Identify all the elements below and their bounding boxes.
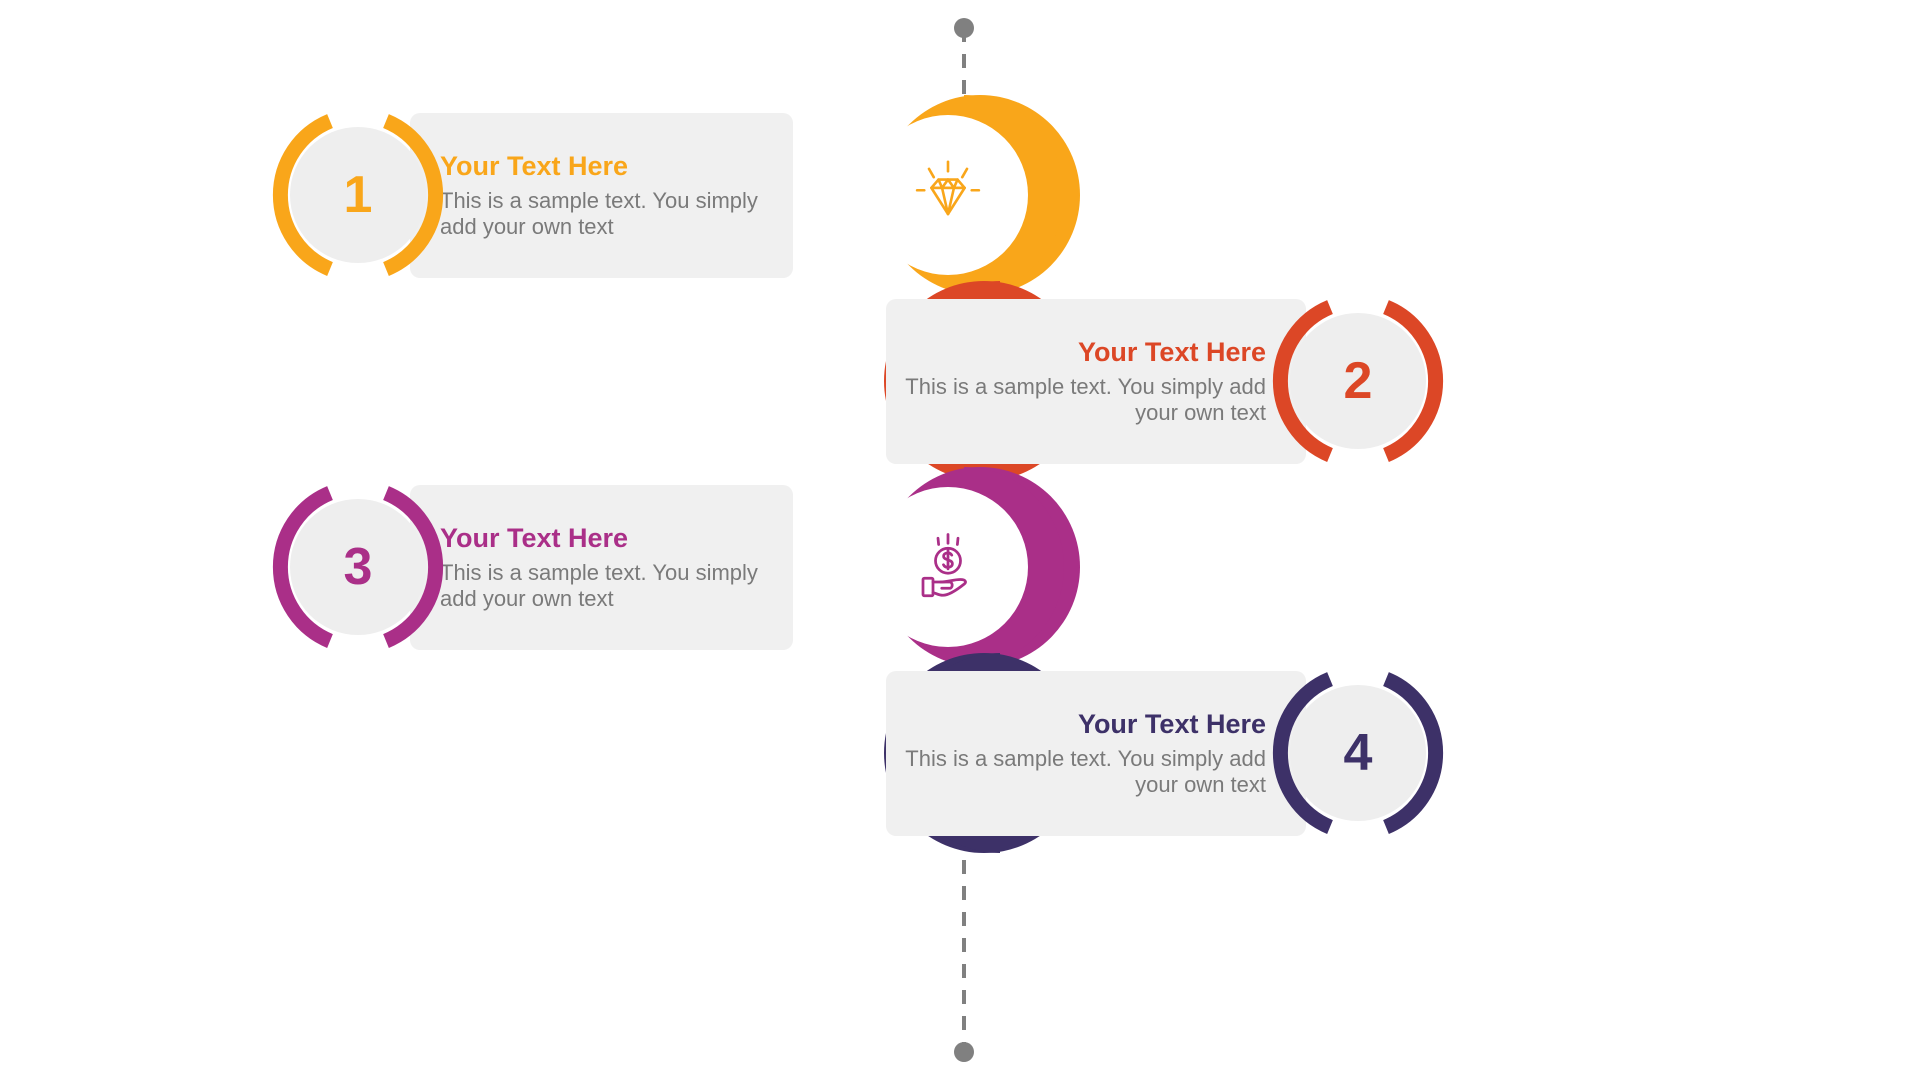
timeline-node-1[interactable] — [864, 95, 1064, 295]
timeline-node-3[interactable] — [864, 467, 1064, 667]
badge-number: 4 — [1290, 685, 1426, 821]
step-number-badge[interactable]: 4 — [1268, 663, 1448, 843]
step-title: Your Text Here — [440, 151, 628, 182]
step-number-badge[interactable]: 2 — [1268, 291, 1448, 471]
step-2[interactable]: Your Text HereThis is a sample text. You… — [886, 291, 1448, 471]
step-card[interactable]: Your Text HereThis is a sample text. You… — [410, 113, 793, 278]
step-card[interactable]: Your Text HereThis is a sample text. You… — [410, 485, 793, 650]
step-description: This is a sample text. You simply add yo… — [886, 746, 1266, 798]
step-title: Your Text Here — [440, 523, 628, 554]
diamond-icon — [868, 115, 1028, 275]
infographic-canvas: Your Text HereThis is a sample text. You… — [0, 0, 1920, 1080]
step-title: Your Text Here — [1078, 709, 1266, 740]
step-description: This is a sample text. You simply add yo… — [886, 374, 1266, 426]
badge-number: 1 — [290, 127, 426, 263]
step-card[interactable]: Your Text HereThis is a sample text. You… — [886, 671, 1306, 836]
badge-number: 3 — [290, 499, 426, 635]
step-description: This is a sample text. You simply add yo… — [440, 188, 793, 240]
step-number-badge[interactable]: 1 — [268, 105, 448, 285]
badge-number: 2 — [1290, 313, 1426, 449]
step-card[interactable]: Your Text HereThis is a sample text. You… — [886, 299, 1306, 464]
step-4[interactable]: Your Text HereThis is a sample text. You… — [886, 663, 1448, 843]
step-description: This is a sample text. You simply add yo… — [440, 560, 793, 612]
step-1[interactable]: Your Text HereThis is a sample text. You… — [268, 105, 793, 285]
step-3[interactable]: Your Text HereThis is a sample text. You… — [268, 477, 793, 657]
timeline-end-dot — [954, 1042, 974, 1062]
step-title: Your Text Here — [1078, 337, 1266, 368]
hand-holding-money-icon — [868, 487, 1028, 647]
timeline-start-dot — [954, 18, 974, 38]
step-number-badge[interactable]: 3 — [268, 477, 448, 657]
